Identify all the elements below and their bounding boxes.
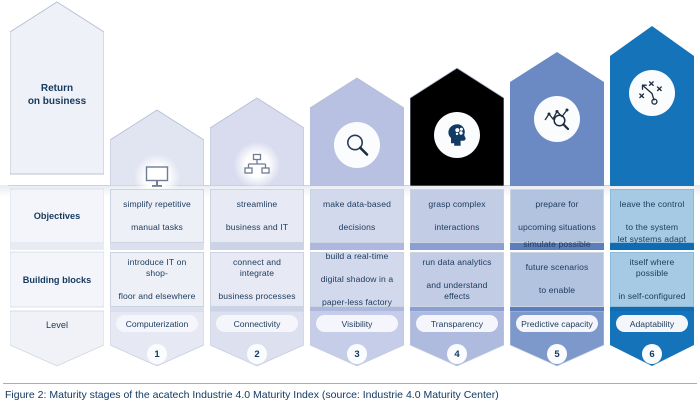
stage-house-shape-5[interactable] [510,0,604,186]
building-block-text-3: build a real-timedigital shadow in apape… [311,253,403,306]
objective-line-1: prepare for [515,199,599,211]
network-icon [244,153,270,177]
stage-house-shape-4[interactable] [410,0,504,186]
objectives-row-label: Objectives [10,195,104,237]
top-row-label-line1: Return [41,83,73,94]
separator-bar-3 [310,243,404,250]
level-label-5: Predictive capacity [521,319,593,329]
objective-line-2: to the system [617,222,688,234]
level-number-2: 2 [247,344,267,364]
level-label-3: Visibility [342,319,373,329]
objective-cell-5[interactable]: prepare for upcoming situations [510,189,604,243]
objective-line-1: grasp complex [425,199,488,211]
objective-cell-4[interactable]: grasp complex interactions [410,189,504,243]
stage-icon-6 [638,80,666,106]
building-block-text-6: let systems adaptitself where possiblein… [611,253,693,306]
building-block-text-5: simulate possiblefuture scenariosto enab… [511,253,603,306]
level-label-6: Adaptability [630,319,674,329]
level-number-4: 4 [447,344,467,364]
stage-icon-badge-2[interactable] [234,142,280,188]
row-label-column: Return on business Objectives Building b… [10,0,104,414]
building-block-text-4: run data analyticsand understand effects [411,253,503,306]
stage-icon-5 [543,107,571,131]
caption-rule [3,383,697,384]
objective-line-2: business and IT [223,222,291,234]
objective-text-5: prepare for upcoming situations [511,190,603,242]
level-label-2: Connectivity [234,319,281,329]
figure-caption: Figure 2: Maturity stages of the acatech… [5,389,696,401]
objective-line-1: leave the control [617,199,688,211]
building-block-cell-4[interactable]: run data analyticsand understand effects [410,252,504,307]
magnifier-icon [344,132,370,158]
stage-icon-3 [344,132,370,158]
building-block-cell-6[interactable]: let systems adaptitself where possiblein… [610,252,694,307]
stage-column-3[interactable]: make data-based decisions build a real-t… [310,0,404,414]
building-block-cell-5[interactable]: simulate possiblefuture scenariosto enab… [510,252,604,307]
objective-line-2: manual tasks [120,222,194,234]
building-block-cell-1[interactable]: introduce IT on shop-floor and elsewhere [110,252,204,307]
objective-text-3: make data-based decisions [311,190,403,242]
level-number-5: 5 [547,344,567,364]
top-row-label: Return on business [10,78,104,112]
top-row-label-line2: on business [28,96,86,107]
stage-icon-badge-4[interactable] [434,112,480,158]
level-label-4: Transparency [431,319,483,329]
stage-column-5[interactable]: prepare for upcoming situations simulate… [510,0,604,414]
level-pill-4[interactable]: Transparency [416,315,498,332]
building-block-text-2: connect and integratebusiness processes [211,253,303,306]
stage-icon-1 [144,165,170,189]
building-block-line-1: simulate possible [520,239,594,251]
stage-icon-2 [244,153,270,177]
building-block-line-1: build a real-time [318,251,397,263]
building-block-line-3: in self-configured [614,291,690,303]
objective-text-1: simplify repetitive manual tasks [111,190,203,242]
objective-line-1: simplify repetitive [120,199,194,211]
stage-icon-badge-3[interactable] [334,122,380,168]
building-block-line-1: introduce IT on shop- [114,257,200,280]
building-block-cell-3[interactable]: build a real-timedigital shadow in apape… [310,252,404,307]
objective-line-1: streamline [223,199,291,211]
building-block-line-2: and understand effects [414,280,500,303]
building-block-line-1: let systems adapt [614,234,690,246]
building-block-line-2: digital shadow in a [318,274,397,286]
level-row-label: Level [10,314,104,336]
trend-analysis-icon [543,107,571,131]
stage-column-2[interactable]: streamline business and IT connect and i… [210,0,304,414]
building-block-cell-2[interactable]: connect and integratebusiness processes [210,252,304,307]
objective-cell-1[interactable]: simplify repetitive manual tasks [110,189,204,243]
level-number-6: 6 [642,344,662,364]
building-block-line-2: floor and elsewhere [114,291,200,303]
stage-icon-badge-5[interactable] [534,96,580,142]
level-pill-3[interactable]: Visibility [316,315,398,332]
stage-column-4[interactable]: grasp complex interactions run data anal… [410,0,504,414]
building-block-line-3: to enable [520,285,594,297]
building-blocks-row-label: Building blocks [10,258,104,302]
objective-cell-3[interactable]: make data-based decisions [310,189,404,243]
objective-line-1: make data-based [320,199,394,211]
level-pill-2[interactable]: Connectivity [216,315,298,332]
separator-bar-4 [410,243,504,250]
building-block-line-1: run data analytics [414,257,500,269]
level-pill-6[interactable]: Adaptability [616,315,688,332]
building-block-line-2: itself where possible [614,257,690,280]
separator-bar-2 [210,243,304,250]
level-label-1: Computerization [126,319,189,329]
building-block-line-2: business processes [214,291,300,303]
stage-column-6[interactable]: leave the control to the system let syst… [610,0,694,414]
objective-line-2: interactions [425,222,488,234]
level-pill-5[interactable]: Predictive capacity [516,315,598,332]
building-block-line-2: future scenarios [520,262,594,274]
level-pill-1[interactable]: Computerization [116,315,198,332]
objective-text-4: grasp complex interactions [411,190,503,242]
level-number-1: 1 [147,344,167,364]
stage-column-1[interactable]: simplify repetitive manual tasks introdu… [110,0,204,414]
level-number-3: 3 [347,344,367,364]
monitor-icon [144,165,170,189]
separator-bar-1 [110,243,204,250]
brain-head-icon [444,122,470,148]
objective-line-2: upcoming situations [515,222,599,234]
strategy-play-icon [638,80,666,106]
stage-icon-4 [444,122,470,148]
building-block-text-1: introduce IT on shop-floor and elsewhere [111,253,203,306]
objective-text-2: streamline business and IT [211,190,303,242]
figure-container: Return on business Objectives Building b… [0,0,700,414]
objective-line-2: decisions [320,222,394,234]
objective-cell-2[interactable]: streamline business and IT [210,189,304,243]
stage-icon-badge-6[interactable] [629,70,675,116]
building-block-line-1: connect and integrate [214,257,300,280]
